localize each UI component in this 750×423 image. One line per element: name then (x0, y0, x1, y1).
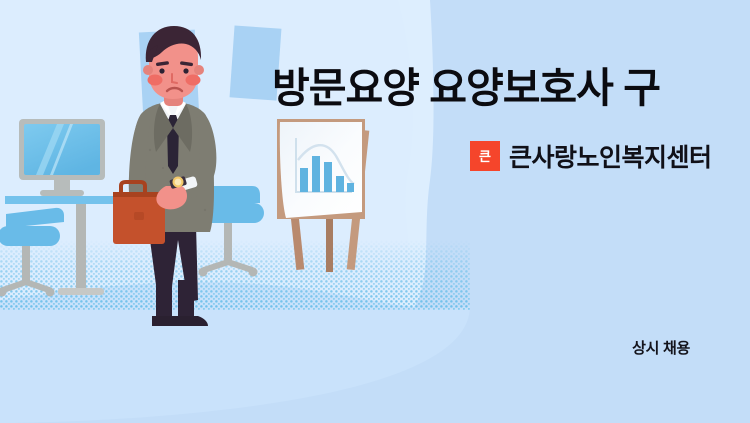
page-title: 방문요양 요양보호사 구 (272, 66, 742, 112)
floor-texture (0, 240, 470, 310)
brand-name-label: 큰사랑노인복지센터 (509, 138, 712, 174)
job-posting-banner: 방문요양 요양보호사 구 큰 큰사랑노인복지센터 상시 채용 (0, 0, 750, 423)
hiring-status-label: 상시 채용 (632, 337, 690, 358)
brand-row: 큰 큰사랑노인복지센터 (470, 138, 712, 174)
brand-logo-badge: 큰 (470, 141, 500, 171)
office-illustration (0, 0, 470, 423)
